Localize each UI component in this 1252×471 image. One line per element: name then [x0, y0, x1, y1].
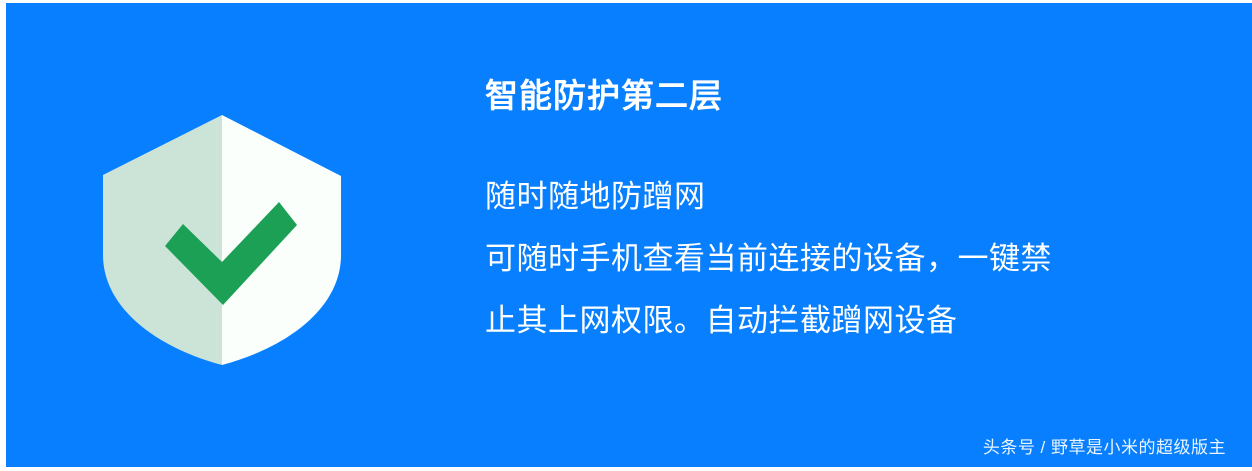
body-line: 可随时手机查看当前连接的设备，一键禁	[485, 228, 1215, 290]
promo-slide: 智能防护第二层 随时随地防蹭网 可随时手机查看当前连接的设备，一键禁 止其上网权…	[0, 0, 1252, 471]
body-line: 随时随地防蹭网	[485, 166, 1215, 228]
shield-check-icon	[95, 107, 351, 373]
watermark-credit: 头条号 / 野草是小米的超级版主	[983, 437, 1226, 459]
body-line: 止其上网权限。自动拦截蹭网设备	[485, 290, 1215, 352]
shield-left-face	[103, 115, 222, 365]
text-column: 智能防护第二层 随时随地防蹭网 可随时手机查看当前连接的设备，一键禁 止其上网权…	[485, 74, 1215, 352]
body-text: 随时随地防蹭网 可随时手机查看当前连接的设备，一键禁 止其上网权限。自动拦截蹭网…	[485, 166, 1215, 352]
page-title: 智能防护第二层	[485, 74, 1215, 118]
